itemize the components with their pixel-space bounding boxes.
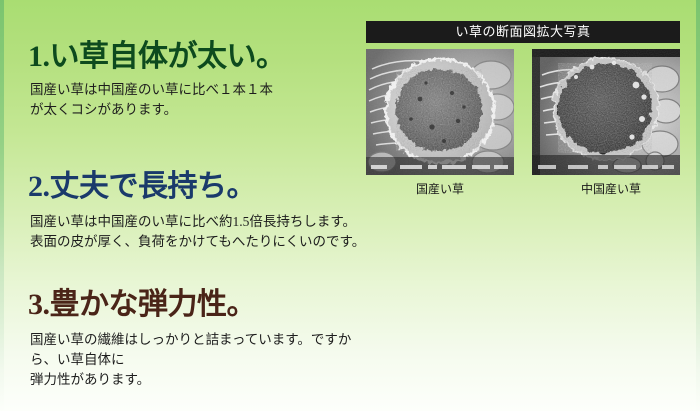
feature-body-2: 国産い草は中国産のい草に比べ約1.5倍長持ちします。 表面の皮が厚く、負荷をかけ… — [0, 204, 370, 252]
right-edge-stripe — [696, 0, 700, 411]
feature-body-1: 国産い草は中国産のい草に比べ１本１本 が太くコシがあります。 — [0, 74, 370, 120]
photo-row: 国産い草 — [366, 49, 680, 197]
photo-panel-banner: い草の断面図拡大写真 — [366, 21, 680, 43]
photo-caption-domestic: 国産い草 — [366, 175, 514, 197]
feature-body-3: 国産い草の繊維はしっかりと詰まっています。ですから、い草自体に 弾力性があります… — [0, 322, 370, 390]
cross-section-photo-panel: い草の断面図拡大写真 — [366, 21, 680, 197]
feature-heading-2: 2.丈夫で長持ち。 — [0, 170, 370, 204]
igusa-comparison-infographic: 1.い草自体が太い。 国産い草は中国産のい草に比べ１本１本 が太くコシがあります… — [0, 0, 700, 411]
feature-heading-1: 1.い草自体が太い。 — [0, 40, 370, 74]
photo-caption-chinese: 中国産い草 — [532, 175, 680, 197]
feature-section-3: 3.豊かな弾力性。 国産い草の繊維はしっかりと詰まっています。ですから、い草自体… — [0, 288, 370, 390]
micrograph-chinese — [532, 49, 680, 175]
photo-cell-chinese: 中国産い草 — [532, 49, 680, 197]
feature-section-2: 2.丈夫で長持ち。 国産い草は中国産のい草に比べ約1.5倍長持ちします。 表面の… — [0, 170, 370, 252]
micrograph-domestic — [366, 49, 514, 175]
photo-cell-domestic: 国産い草 — [366, 49, 514, 197]
feature-heading-3: 3.豊かな弾力性。 — [0, 288, 370, 322]
feature-section-1: 1.い草自体が太い。 国産い草は中国産のい草に比べ１本１本 が太くコシがあります… — [0, 40, 370, 120]
text-column: 1.い草自体が太い。 国産い草は中国産のい草に比べ１本１本 が太くコシがあります… — [0, 0, 370, 411]
